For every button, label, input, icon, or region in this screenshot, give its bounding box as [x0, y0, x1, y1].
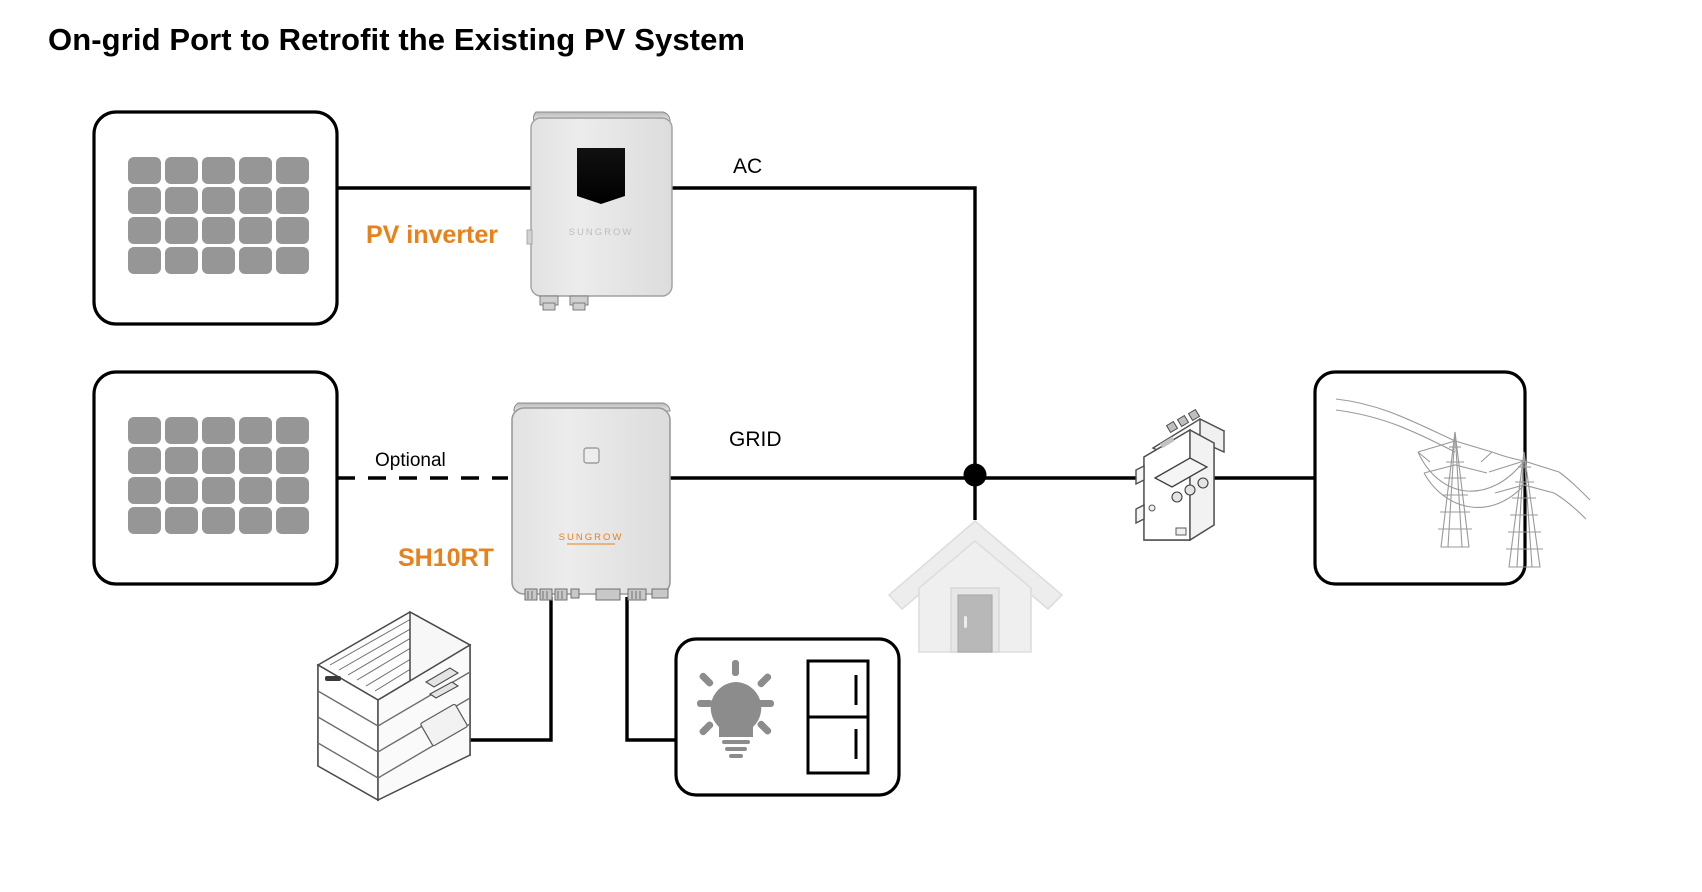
grid-box [1315, 372, 1590, 584]
label-pv-inverter: PV inverter [366, 221, 498, 250]
wire-ac-bus [666, 188, 975, 475]
grid-junction-node [964, 464, 987, 487]
inverter-display [577, 148, 625, 204]
hybrid-inverter-device: SUNGROW [512, 403, 670, 600]
label-grid: GRID [729, 428, 782, 452]
label-ac: AC [733, 155, 762, 179]
loads-box [676, 639, 899, 795]
status-indicator [584, 448, 599, 463]
sungrow-brand-sh10rt: SUNGROW [559, 532, 624, 543]
label-optional: Optional [375, 450, 446, 472]
wire-battery-to-inverter [464, 597, 551, 740]
wire-loads-to-inverter [627, 597, 676, 740]
battery-stack [318, 612, 470, 800]
pv-array-bottom [94, 372, 337, 584]
energy-meter [1136, 410, 1224, 540]
system-diagram: SUNGROW SUNGROW [0, 0, 1702, 892]
pv-inverter-connectors [540, 296, 588, 310]
house-icon [889, 521, 1062, 652]
label-sh10rt: SH10RT [398, 544, 494, 573]
pv-inverter-device: SUNGROW [527, 112, 672, 310]
pv-array-top [94, 112, 337, 324]
sungrow-brand-pv: SUNGROW [569, 227, 634, 238]
